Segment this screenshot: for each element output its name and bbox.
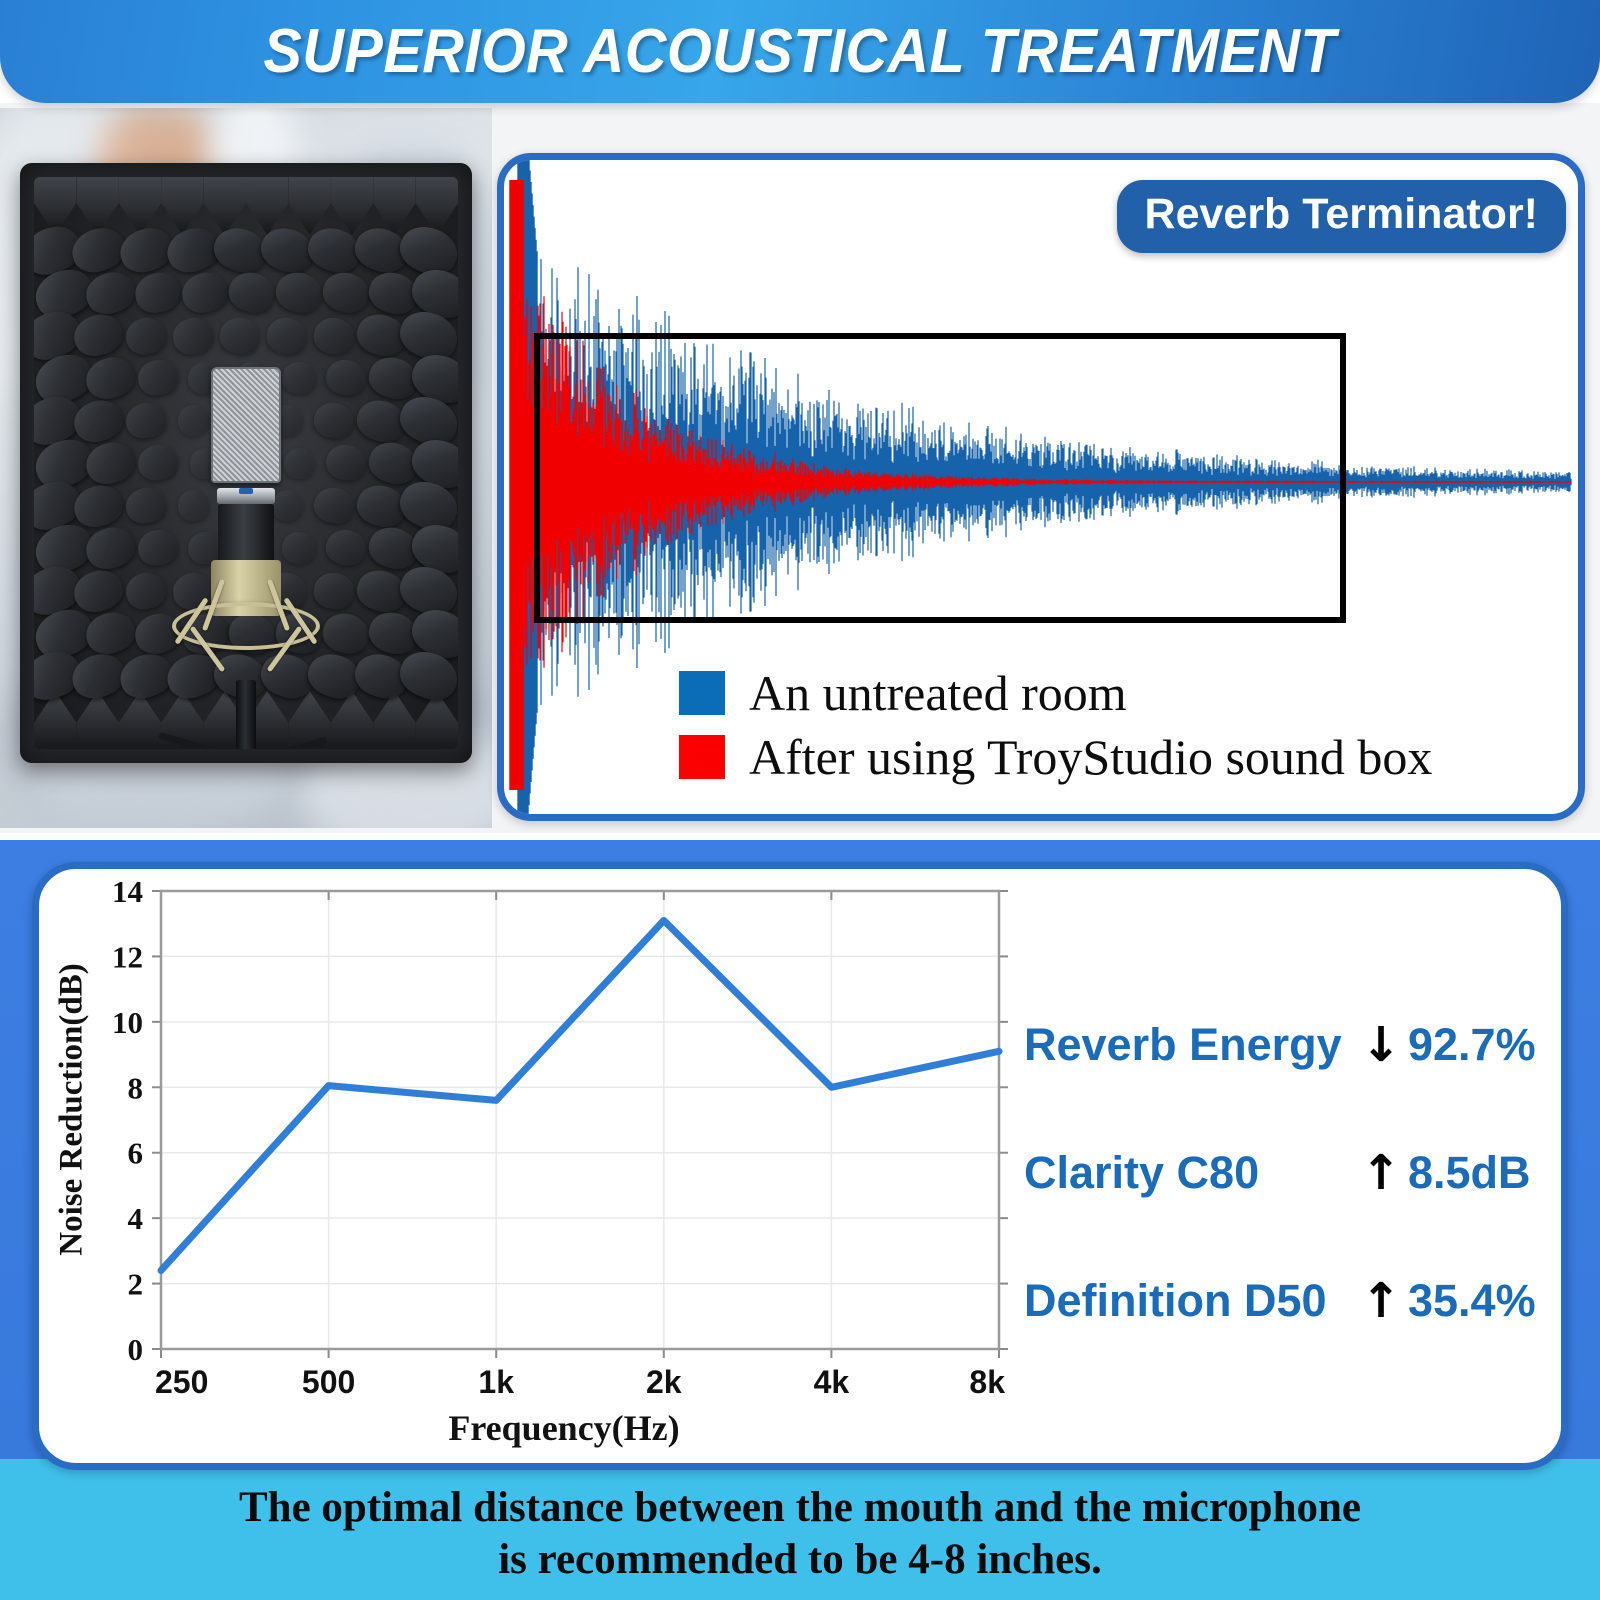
metric-value-definition-d50: 35.4% bbox=[1408, 1275, 1536, 1327]
svg-text:4k: 4k bbox=[814, 1364, 850, 1400]
metric-label-clarity-c80: Clarity C80 bbox=[1024, 1147, 1354, 1199]
chart-y-axis-label: Noise Reduction(dB) bbox=[54, 945, 91, 1275]
metric-value-clarity-c80: 8.5dB bbox=[1408, 1147, 1531, 1199]
waveform-comparison-card: Reverb Terminator! An untreated room Aft… bbox=[497, 153, 1585, 821]
metric-row-definition-d50: Definition D50 ↑ 35.4% bbox=[1024, 1237, 1568, 1365]
reverb-terminator-badge: Reverb Terminator! bbox=[1117, 180, 1566, 253]
metric-row-clarity-c80: Clarity C80 ↑ 8.5dB bbox=[1024, 1109, 1568, 1237]
svg-text:14: 14 bbox=[112, 874, 143, 909]
legend-item-treated: After using TroyStudio sound box bbox=[679, 732, 1432, 782]
legend-swatch-blue bbox=[679, 671, 725, 715]
legend-label-untreated: An untreated room bbox=[749, 668, 1127, 718]
header-banner: SUPERIOR ACOUSTICAL TREATMENT bbox=[0, 0, 1600, 103]
svg-text:4: 4 bbox=[128, 1201, 144, 1236]
metric-row-reverb-energy: Reverb Energy ↓ 92.7% bbox=[1024, 981, 1568, 1109]
noise-reduction-chart: 024681012142505001k2k4k8k Noise Reductio… bbox=[39, 869, 1019, 1469]
caption-line-2: is recommended to be 4-8 inches. bbox=[0, 1534, 1600, 1586]
mic-shock-mount bbox=[171, 560, 321, 680]
product-photo bbox=[0, 108, 492, 828]
footer-caption: The optimal distance between the mouth a… bbox=[0, 1482, 1600, 1587]
svg-text:250: 250 bbox=[155, 1364, 208, 1400]
metrics-list: Reverb Energy ↓ 92.7% Clarity C80 ↑ 8.5d… bbox=[1024, 981, 1568, 1365]
chart-canvas: 024681012142505001k2k4k8k bbox=[39, 869, 1019, 1409]
svg-text:2k: 2k bbox=[646, 1364, 682, 1400]
mic-body bbox=[218, 504, 274, 566]
metric-label-definition-d50: Definition D50 bbox=[1024, 1275, 1354, 1327]
legend-item-untreated: An untreated room bbox=[679, 668, 1432, 718]
acoustic-foam-shield bbox=[20, 163, 472, 763]
svg-text:0: 0 bbox=[128, 1332, 144, 1367]
foam-top-teeth bbox=[34, 177, 458, 235]
mic-grille bbox=[211, 367, 281, 483]
up-arrow-icon: ↑ bbox=[1354, 1277, 1408, 1325]
foam-interior bbox=[34, 177, 458, 749]
up-arrow-icon: ↑ bbox=[1354, 1149, 1408, 1197]
svg-text:2: 2 bbox=[128, 1267, 144, 1302]
metrics-panel: 024681012142505001k2k4k8k Noise Reductio… bbox=[32, 862, 1568, 1470]
mic-stand-legs bbox=[171, 717, 321, 749]
condenser-microphone bbox=[171, 367, 321, 749]
svg-text:6: 6 bbox=[128, 1136, 144, 1171]
svg-text:12: 12 bbox=[112, 939, 143, 974]
caption-line-1: The optimal distance between the mouth a… bbox=[0, 1482, 1600, 1534]
waveform-legend: An untreated room After using TroyStudio… bbox=[679, 668, 1432, 796]
top-comparison-section: Reverb Terminator! An untreated room Aft… bbox=[0, 103, 1600, 833]
svg-text:500: 500 bbox=[302, 1364, 355, 1400]
chart-x-axis-label: Frequency(Hz) bbox=[149, 1407, 979, 1449]
svg-text:10: 10 bbox=[112, 1005, 143, 1040]
legend-swatch-red bbox=[679, 735, 725, 779]
mic-ring bbox=[217, 488, 275, 504]
svg-text:8: 8 bbox=[128, 1070, 144, 1105]
svg-text:8k: 8k bbox=[969, 1364, 1005, 1400]
page-title: SUPERIOR ACOUSTICAL TREATMENT bbox=[264, 16, 1337, 87]
svg-text:1k: 1k bbox=[478, 1364, 514, 1400]
metric-label-reverb-energy: Reverb Energy bbox=[1024, 1019, 1354, 1071]
legend-label-treated: After using TroyStudio sound box bbox=[749, 732, 1432, 782]
metric-value-reverb-energy: 92.7% bbox=[1408, 1019, 1536, 1071]
down-arrow-icon: ↓ bbox=[1354, 1021, 1408, 1069]
